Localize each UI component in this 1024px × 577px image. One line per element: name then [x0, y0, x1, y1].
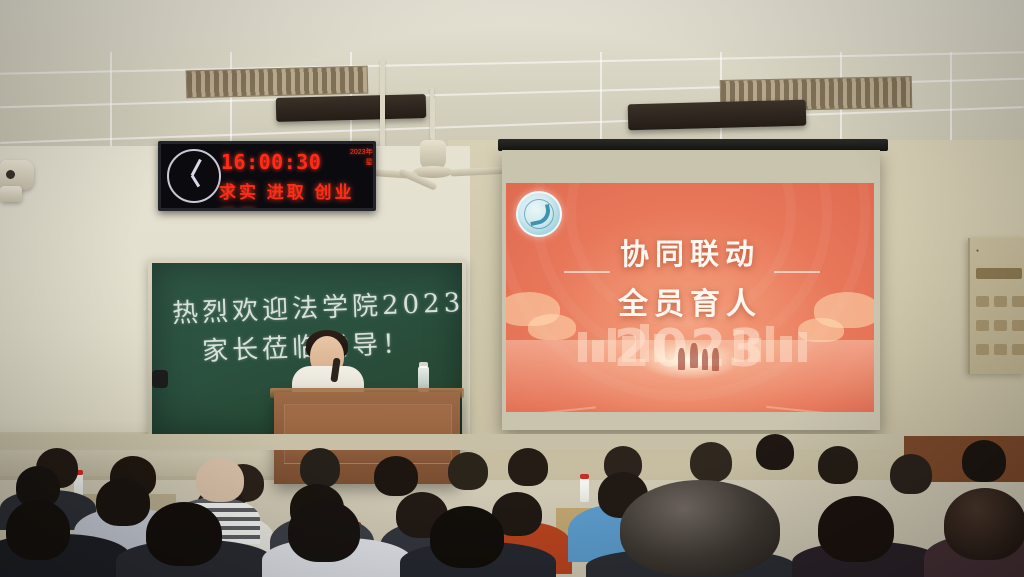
led-clock-board: 16:00:30 2023年09月02日 星期六 求实 进取 创业 报国 [158, 141, 376, 211]
audience-head [962, 440, 1006, 482]
led-weekday-value: 星期六 [341, 158, 376, 168]
slide-person-silhouette [712, 348, 719, 371]
audience-head [818, 496, 894, 562]
audience-head [508, 448, 548, 486]
led-date-value: 2023年09月02日 [341, 148, 376, 158]
projector-light-bar [628, 100, 807, 131]
slide-building [780, 336, 792, 362]
projection-slide: 协同联动 全员育人 2023 [506, 183, 874, 412]
wall-camera [0, 186, 22, 202]
analog-clock-icon [167, 149, 221, 203]
slide-building [622, 336, 636, 362]
slide-cloud-decor [528, 314, 576, 340]
slide-building [592, 340, 604, 362]
slide-building [578, 332, 587, 362]
clock-hour-hand [191, 175, 200, 188]
projector-light-bar [276, 94, 427, 122]
slide-building [608, 328, 616, 362]
audience-backdrop [0, 434, 1024, 450]
poster-value-cell [976, 320, 989, 331]
poster-value-cell [994, 344, 1007, 355]
chalkboard-clip [152, 370, 168, 388]
audience-head [288, 500, 360, 562]
audience-head-bald [196, 458, 244, 502]
poster-header-text: ● [976, 248, 979, 254]
audience-head [890, 454, 932, 494]
ceiling-tile-line [230, 52, 232, 150]
audience-head [374, 456, 418, 496]
ceiling-tile-line [110, 52, 112, 150]
poster-value-cell [1012, 320, 1024, 331]
audience-head [690, 442, 732, 482]
ceiling-beam [0, 0, 1024, 54]
led-date-text: 2023年09月02日 星期六 [341, 148, 376, 168]
audience-head [146, 502, 222, 566]
suspended-ceiling [0, 0, 1024, 150]
led-motto-text: 求实 进取 创业 报国 [219, 178, 373, 211]
poster-value-cell [976, 344, 989, 355]
slide-divider [564, 271, 610, 273]
slide-person-silhouette [702, 349, 708, 370]
ceiling-tile-line [0, 51, 1024, 74]
slide-building [798, 332, 807, 362]
audience-head [756, 434, 794, 470]
conduit-pipe [380, 60, 385, 158]
slide-building [748, 338, 761, 362]
poster-value-cell [1012, 296, 1024, 307]
clock-minute-hand [191, 159, 202, 176]
poster-value-cell [994, 296, 1007, 307]
slide-building [766, 326, 774, 362]
audience-head [818, 446, 858, 484]
slide-person-silhouette [678, 348, 685, 370]
slide-person-silhouette [690, 343, 698, 368]
core-values-poster: ● [968, 238, 1024, 374]
audience-head-grey [620, 480, 780, 576]
poster-value-cell [1012, 344, 1024, 355]
poster-value-cell [994, 320, 1007, 331]
seated-audience [0, 430, 1024, 577]
audience-head [944, 488, 1024, 560]
audience-head [430, 506, 504, 568]
chalkboard-line-1: 热烈欢迎法学院2023级 [171, 281, 462, 330]
poster-value-cell [976, 296, 989, 307]
led-time-text: 16:00:30 [221, 150, 321, 174]
water-bottle [580, 478, 589, 502]
audience-head [6, 500, 70, 560]
speaker-dot-icon [6, 170, 15, 179]
poster-heading-band [976, 268, 1022, 279]
ceiling-tile-line [950, 52, 952, 150]
ceiling-tile-line [600, 52, 602, 150]
audience-head [448, 452, 488, 490]
audience-head [300, 448, 340, 488]
audience-head [96, 478, 150, 526]
air-vent-icon [186, 66, 369, 99]
bottle-cap [580, 474, 589, 479]
slide-divider [774, 271, 820, 273]
slide-title-line-1: 协同联动 [506, 231, 874, 273]
ceiling-fan-rod [431, 98, 435, 146]
lecture-hall-photo: 16:00:30 2023年09月02日 星期六 求实 进取 创业 报国 热烈欢… [0, 0, 1024, 577]
